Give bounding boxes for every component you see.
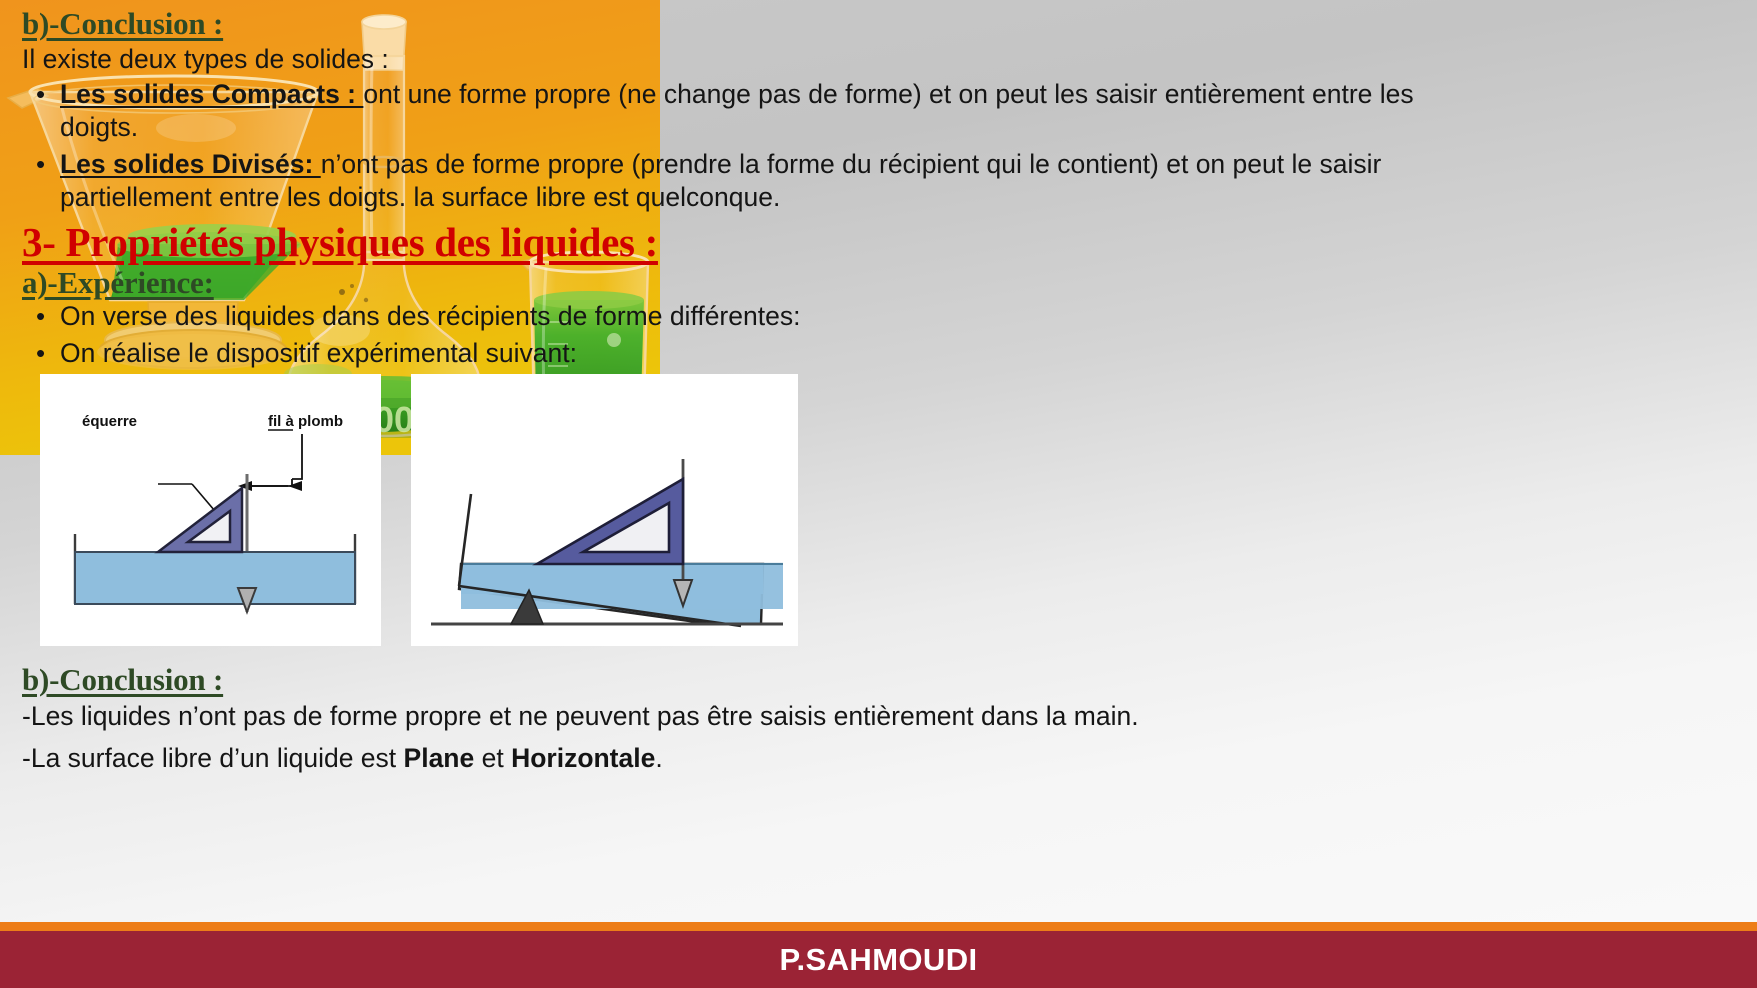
list-item-content: Les solides Divisés: n’ont pas de forme … xyxy=(60,148,1442,214)
solides-intro-text: Il existe deux types de solides : xyxy=(22,43,389,76)
bullet-icon: • xyxy=(22,300,60,333)
conclusion-line-pre: -La surface libre d’un liquide est xyxy=(22,743,404,773)
list-item-content: Les solides Compacts : ont une forme pro… xyxy=(60,78,1442,144)
conclusion-solides-heading: b)-Conclusion : xyxy=(22,6,223,42)
slide-canvas: b)-Conclusion : Il existe deux types de … xyxy=(0,0,1757,988)
conclusion-liquides-heading: b)-Conclusion : xyxy=(22,662,223,698)
list-item: • Les solides Divisés: n’ont pas de form… xyxy=(22,148,1442,214)
conclusion-bold-plane: Plane xyxy=(404,743,475,773)
bullet-icon: • xyxy=(22,78,60,111)
footer-accent-bar xyxy=(0,922,1757,931)
list-item: • On verse des liquides dans des récipie… xyxy=(22,300,852,333)
conclusion-line: -Les liquides n’ont pas de forme propre … xyxy=(22,700,1422,733)
figure-left-svg: équerre fil à plomb xyxy=(40,374,381,646)
conclusion-liquides-lines: -Les liquides n’ont pas de forme propre … xyxy=(22,700,1422,775)
figure-equerre-fil-a-plomb: équerre fil à plomb xyxy=(40,374,381,646)
figure-recipient-incline xyxy=(411,374,798,646)
footer-bar: P.SAHMOUDI xyxy=(0,931,1757,988)
figure-right-svg xyxy=(411,374,798,646)
conclusion-line-text: -Les liquides n’ont pas de forme propre … xyxy=(22,701,1139,731)
list-item-body: On verse des liquides dans des récipient… xyxy=(60,300,852,333)
bullet-icon: • xyxy=(22,337,60,370)
list-item-term: Les solides Compacts : xyxy=(60,79,363,109)
figure-left-label-fil: fil à plomb xyxy=(268,413,343,430)
bullet-icon: • xyxy=(22,148,60,181)
figure-left-label-equerre: équerre xyxy=(82,413,137,430)
list-item-term: Les solides Divisés: xyxy=(60,149,321,179)
page-title: 3- Propriétés physiques des liquides : xyxy=(22,218,658,266)
conclusion-bold-horizontale: Horizontale xyxy=(511,743,655,773)
solides-bullet-list: • Les solides Compacts : ont une forme p… xyxy=(22,78,1442,215)
footer-author-name: P.SAHMOUDI xyxy=(779,942,977,978)
experience-bullet-list: • On verse des liquides dans des récipie… xyxy=(22,300,852,370)
conclusion-line: -La surface libre d’un liquide est Plane… xyxy=(22,742,1422,775)
conclusion-line-post: . xyxy=(655,743,662,773)
experience-subheading: a)-Expérience: xyxy=(22,265,214,301)
list-item: • Les solides Compacts : ont une forme p… xyxy=(22,78,1442,144)
list-item: • On réalise le dispositif expérimental … xyxy=(22,337,852,370)
list-item-body: On réalise le dispositif expérimental su… xyxy=(60,337,852,370)
conclusion-line-mid: et xyxy=(474,743,511,773)
